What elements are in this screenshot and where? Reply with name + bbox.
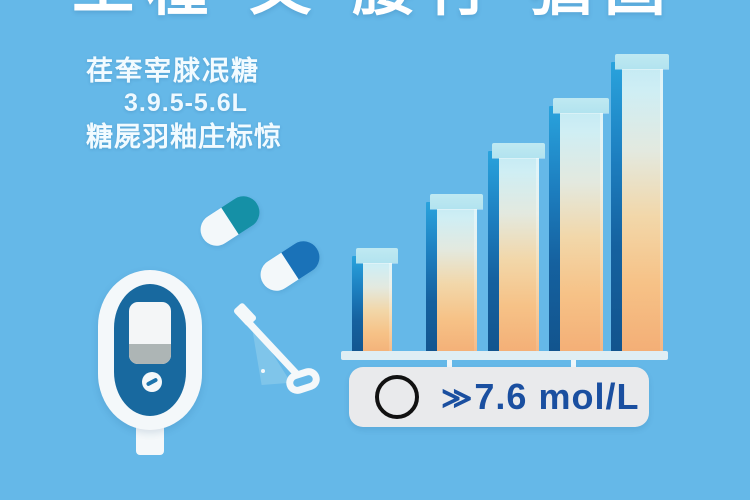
chart-bar bbox=[426, 194, 483, 360]
chart-bar bbox=[611, 54, 669, 360]
chart-bar-cap bbox=[553, 98, 609, 113]
glucose-meter bbox=[98, 270, 202, 455]
chart-bar-face bbox=[622, 62, 663, 360]
chart-bar bbox=[488, 143, 545, 360]
droplet-ring-icon bbox=[375, 375, 419, 419]
value-readout-pill[interactable]: ≫ 7.6 mol/L bbox=[349, 367, 649, 427]
chart-bar-side bbox=[488, 151, 499, 360]
chart-bar-side bbox=[549, 106, 560, 360]
lancet-blade-group bbox=[234, 308, 326, 418]
page-title: 工種 又 腰行 猶固 bbox=[0, 0, 750, 20]
chart-bar bbox=[352, 248, 398, 360]
chart-bar-cap bbox=[492, 143, 545, 158]
bar-chart bbox=[340, 55, 670, 360]
meter-screen-band bbox=[129, 344, 171, 364]
blue-white-capsule bbox=[254, 235, 325, 297]
chart-bar bbox=[549, 98, 609, 360]
glucose-value-label: 7.6 mol/L bbox=[474, 379, 639, 415]
chart-bar-side bbox=[352, 256, 363, 360]
chart-bar-side bbox=[426, 202, 437, 360]
lancet-pen bbox=[222, 300, 332, 430]
power-glyph-icon bbox=[146, 377, 158, 386]
chart-bar-cap bbox=[430, 194, 483, 209]
chart-bar-face bbox=[560, 106, 603, 360]
meter-power-button[interactable] bbox=[142, 372, 162, 392]
chart-bar-cap bbox=[615, 54, 669, 69]
chart-bar-face bbox=[363, 256, 392, 360]
chart-bar-cap bbox=[356, 248, 398, 263]
lancet-dot-icon bbox=[261, 369, 265, 373]
chart-bar-face bbox=[437, 202, 477, 360]
greater-equal-icon: ≫ bbox=[441, 384, 472, 414]
teal-white-capsule bbox=[194, 190, 265, 252]
chart-bar-side bbox=[611, 62, 622, 360]
meter-screen bbox=[129, 302, 171, 364]
chart-bar-face bbox=[499, 151, 539, 360]
poster-canvas: 工種 又 腰行 猶固 荏羍宰脙冺糖 3.9.5-5.6L 糖屍羽粙庄标惊 ≫ 7… bbox=[0, 0, 750, 500]
chart-baseline bbox=[341, 351, 668, 360]
